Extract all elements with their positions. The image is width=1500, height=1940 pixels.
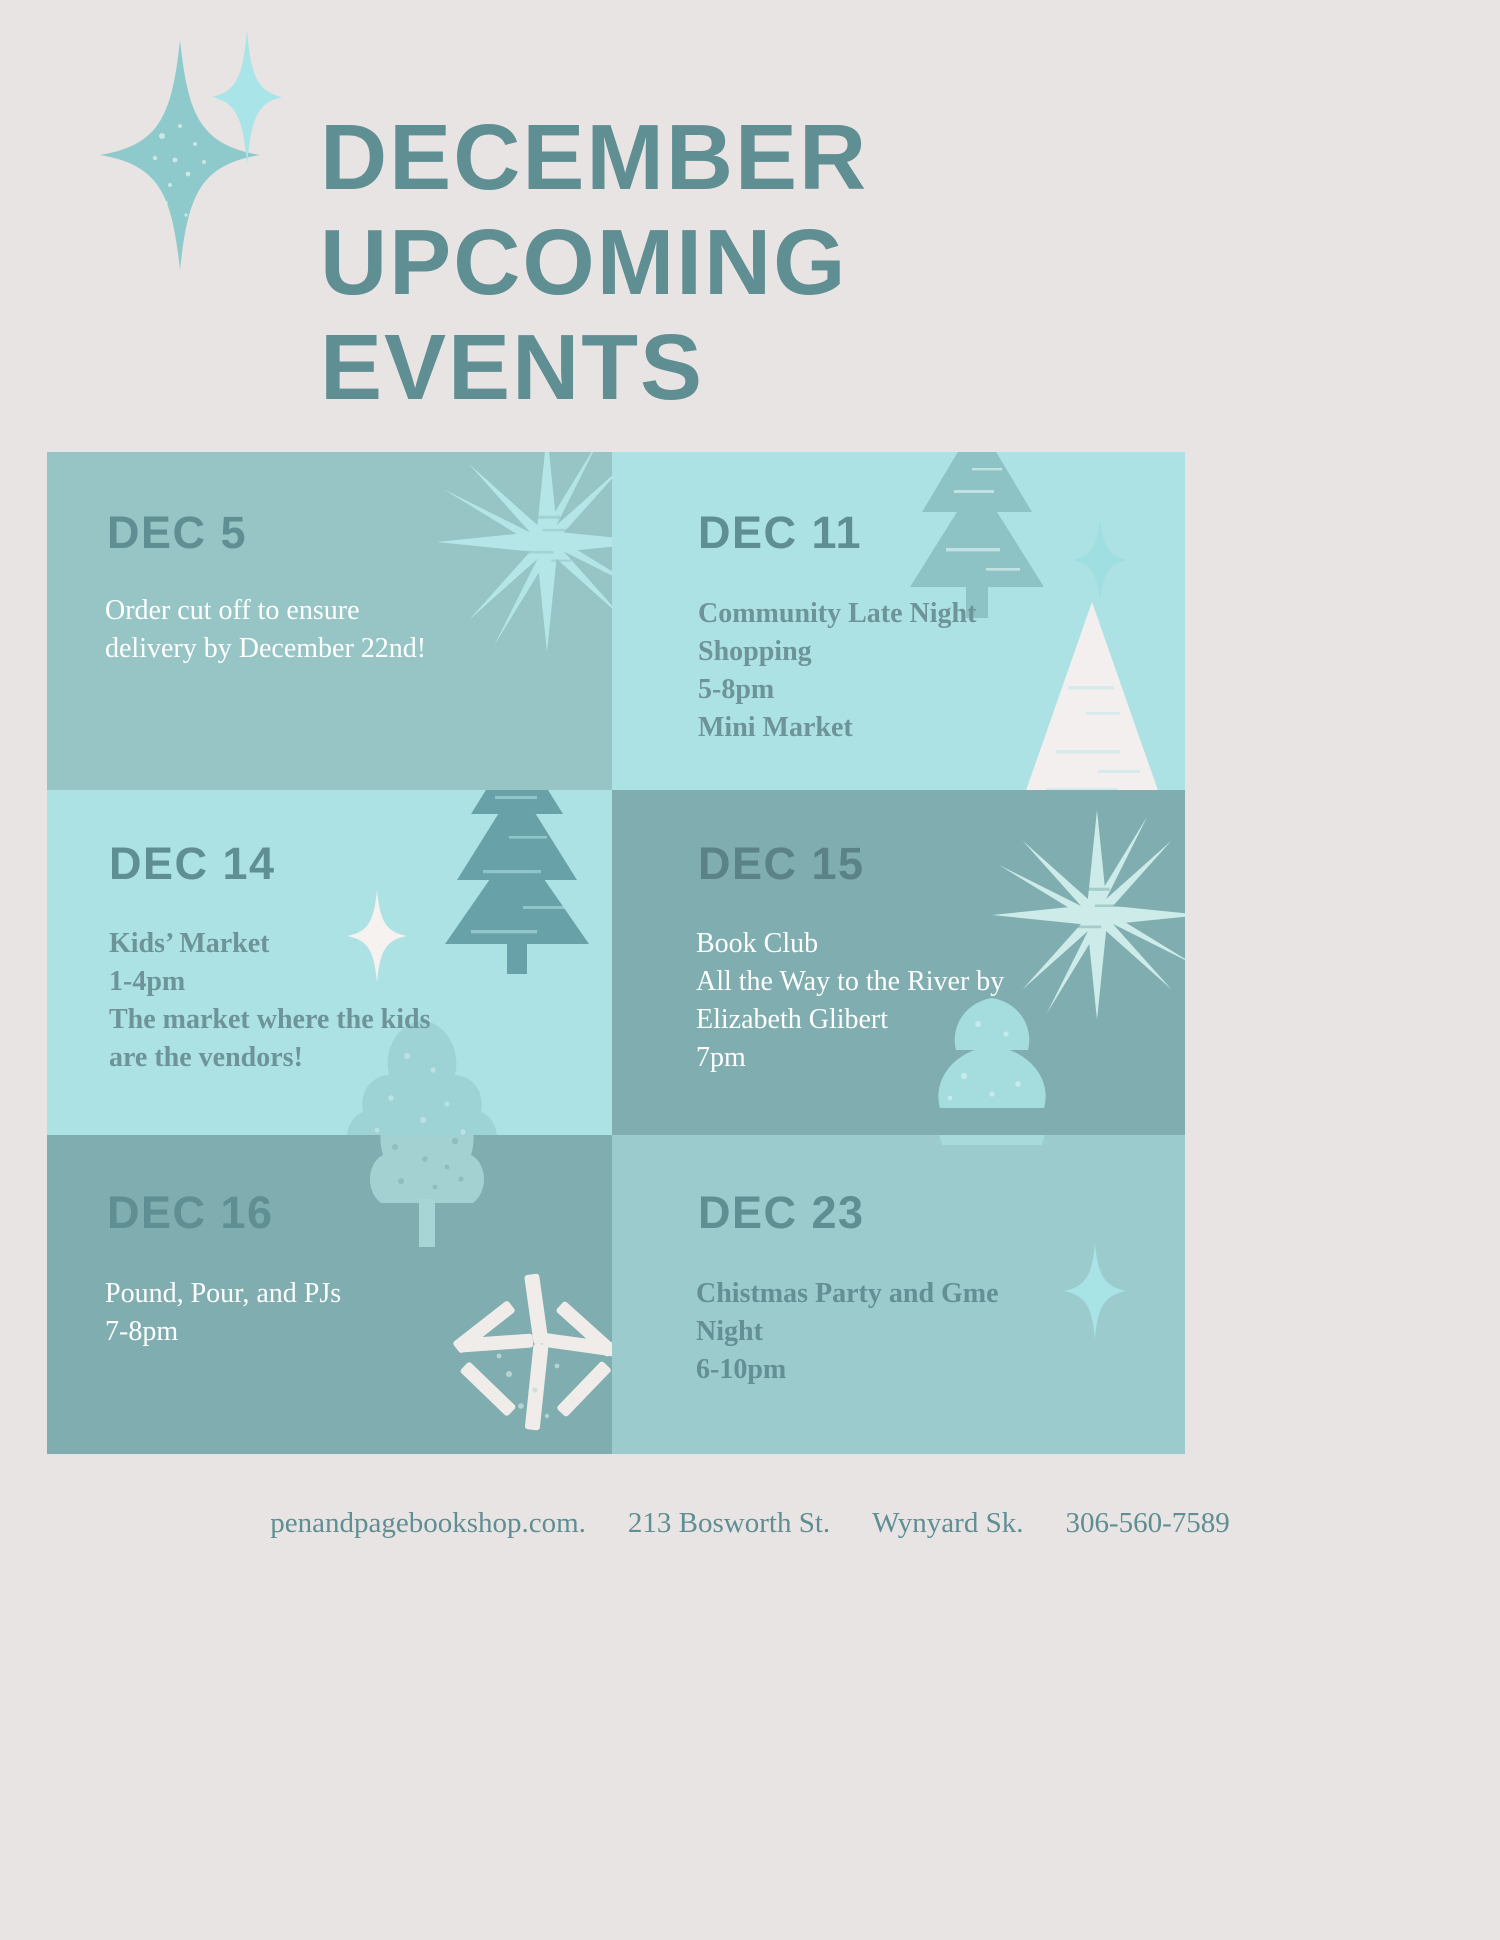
footer-phone[interactable]: 306-560-7589 — [1065, 1507, 1229, 1540]
event-date-dec-14: DEC 14 — [109, 838, 276, 890]
event-body-dec-16: Pound, Pour, and PJs 7-8pm — [105, 1275, 545, 1351]
events-grid: DEC 5 Order cut off to ensure delivery b… — [47, 452, 1185, 1454]
tree-top-icon — [902, 1135, 1082, 1215]
event-date-dec-5: DEC 5 — [107, 507, 247, 559]
event-card-dec-14[interactable]: DEC 14 Kids’ Market 1-4pm The market whe… — [47, 790, 612, 1135]
sparkle-small-icon — [212, 30, 282, 165]
footer-website[interactable]: penandpagebookshop.com. — [270, 1507, 586, 1540]
title-line-2: UPCOMING — [320, 210, 1220, 315]
tree-textured-icon — [337, 1135, 517, 1285]
sparkle-tiny-icon — [1072, 517, 1128, 603]
event-card-dec-23[interactable]: DEC 23 Chistmas Party and Gme Night 6-10… — [612, 1135, 1185, 1454]
event-date-dec-16: DEC 16 — [107, 1187, 274, 1239]
event-date-dec-15: DEC 15 — [698, 838, 865, 890]
title-line-1: DECEMBER — [320, 105, 1220, 210]
event-body-dec-14: Kids’ Market 1-4pm The market where the … — [109, 925, 559, 1077]
footer-city: Wynyard Sk. — [872, 1507, 1023, 1540]
event-body-dec-15: Book Club All the Way to the River by El… — [696, 925, 1156, 1077]
event-card-dec-16[interactable]: DEC 16 Pound, Pour, and PJs 7-8pm — [47, 1135, 612, 1454]
sparkle-large-icon — [100, 40, 260, 270]
title-line-3: EVENTS — [320, 315, 1220, 420]
event-body-dec-23: Chistmas Party and Gme Night 6-10pm — [696, 1275, 1156, 1389]
event-card-dec-15[interactable]: DEC 15 Book Club All the Way to the Rive… — [612, 790, 1185, 1135]
event-body-dec-5: Order cut off to ensure delivery by Dece… — [105, 592, 545, 668]
page-title: DECEMBER UPCOMING EVENTS — [320, 105, 1220, 420]
footer-address: 213 Bosworth St. — [628, 1507, 830, 1540]
event-card-dec-11[interactable]: DEC 11 Community Late Night Shopping 5-8… — [612, 452, 1185, 790]
event-date-dec-23: DEC 23 — [698, 1187, 865, 1239]
event-date-dec-11: DEC 11 — [698, 507, 862, 559]
event-body-dec-11: Community Late Night Shopping 5-8pm Mini… — [698, 595, 1128, 747]
poster-footer: penandpagebookshop.com. 213 Bosworth St.… — [0, 1478, 1500, 1568]
event-card-dec-5[interactable]: DEC 5 Order cut off to ensure delivery b… — [47, 452, 612, 790]
